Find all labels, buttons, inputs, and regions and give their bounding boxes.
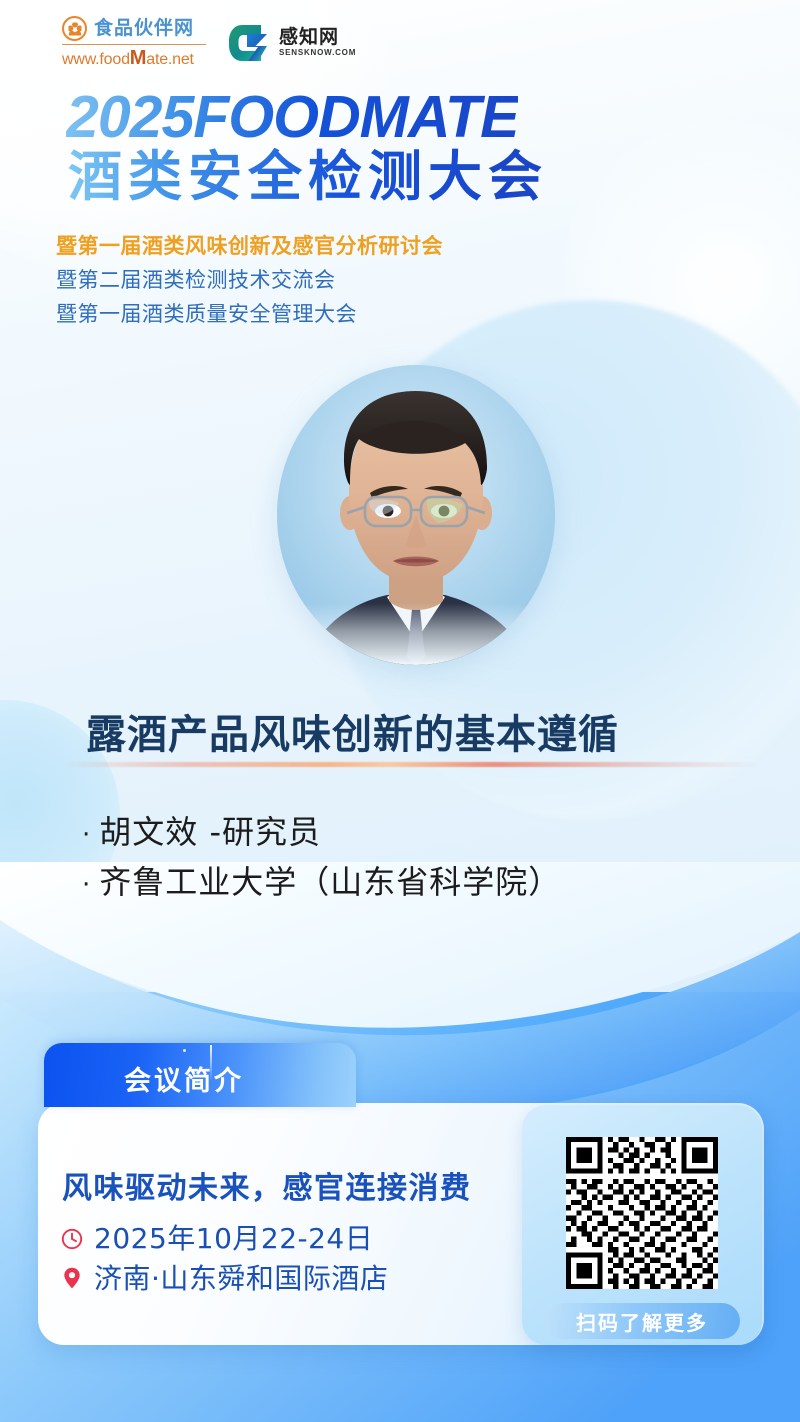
- foodmate-logo-cn: 食品伙伴网: [94, 19, 194, 38]
- info-tab[interactable]: 会议简介: [44, 1043, 356, 1107]
- speaker-affiliation: 齐鲁工业大学（山东省科学院）: [99, 858, 561, 908]
- speaker-row: · 胡文效 -研究员: [82, 808, 561, 858]
- foodmate-url-prefix: www.food: [62, 51, 130, 68]
- speaker-portrait-wrap: [277, 365, 555, 665]
- speaker-portrait: [277, 365, 555, 665]
- qr-code-image: [566, 1137, 718, 1289]
- foodmate-logo[interactable]: 食品伙伴网 www.foodMate.net: [62, 16, 206, 69]
- subtitle-group: 暨第一届酒类风味创新及感官分析研讨会 暨第二届酒类检测技术交流会 暨第一届酒类质…: [56, 230, 443, 331]
- title-english: 2025FOODMATE: [66, 88, 518, 147]
- sensknow-logo[interactable]: 感知网 SENSKNOW.COM: [228, 22, 356, 64]
- talk-title: 露酒产品风味创新的基本遵循: [86, 702, 619, 760]
- qr-caption-button[interactable]: 扫码了解更多: [544, 1303, 740, 1339]
- clock-icon: [60, 1227, 84, 1251]
- event-location: 济南·山东舜和国际酒店: [94, 1262, 388, 1296]
- title-divider: [60, 762, 760, 767]
- meta-row-location: 济南·山东舜和国际酒店: [60, 1262, 388, 1296]
- info-tab-label: 会议简介: [124, 1059, 244, 1098]
- sensknow-logo-cn: 感知网: [279, 28, 356, 48]
- header-logos: 食品伙伴网 www.foodMate.net: [62, 16, 356, 69]
- sensknow-logo-en: SENSKNOW.COM: [279, 48, 356, 58]
- decorative-blob-top-right: [560, 120, 800, 450]
- speaker-info-list: · 胡文效 -研究员 · 齐鲁工业大学（山东省科学院）: [82, 808, 561, 907]
- foodmate-rule: [62, 44, 206, 45]
- speaker-row: · 齐鲁工业大学（山东省科学院）: [82, 858, 561, 908]
- map-pin-icon: [60, 1266, 84, 1290]
- title-chinese: 酒类安全检测大会: [68, 148, 548, 206]
- foodmate-logo-url: www.foodMate.net: [62, 47, 206, 69]
- event-date: 2025年10月22-24日: [94, 1222, 373, 1256]
- sensknow-cz-icon: [228, 22, 272, 64]
- tab-sparkle-dot: [183, 1049, 186, 1052]
- info-meta: 2025年10月22-24日 济南·山东舜和国际酒店: [60, 1222, 388, 1301]
- bullet-icon: ·: [82, 865, 91, 905]
- foodmate-flower-icon: [62, 16, 87, 41]
- portrait-bottom-fade: [277, 603, 555, 665]
- qr-panel[interactable]: 扫码了解更多: [522, 1105, 762, 1345]
- info-headline: 风味驱动未来，感官连接消费: [62, 1163, 472, 1207]
- subtitle-line-1: 暨第一届酒类风味创新及感官分析研讨会: [56, 230, 443, 263]
- subtitle-line-2: 暨第二届酒类检测技术交流会: [56, 263, 443, 297]
- qr-caption-label: 扫码了解更多: [576, 1307, 708, 1336]
- foodmate-url-suffix: ate.net: [146, 51, 194, 68]
- foodmate-url-mid: M: [130, 47, 146, 69]
- poster-root: 食品伙伴网 www.foodMate.net: [0, 0, 800, 1422]
- bullet-icon: ·: [82, 815, 91, 855]
- meta-row-date: 2025年10月22-24日: [60, 1222, 388, 1256]
- speaker-name: 胡文效 -研究员: [99, 808, 321, 858]
- subtitle-line-3: 暨第一届酒类质量安全管理大会: [56, 297, 443, 331]
